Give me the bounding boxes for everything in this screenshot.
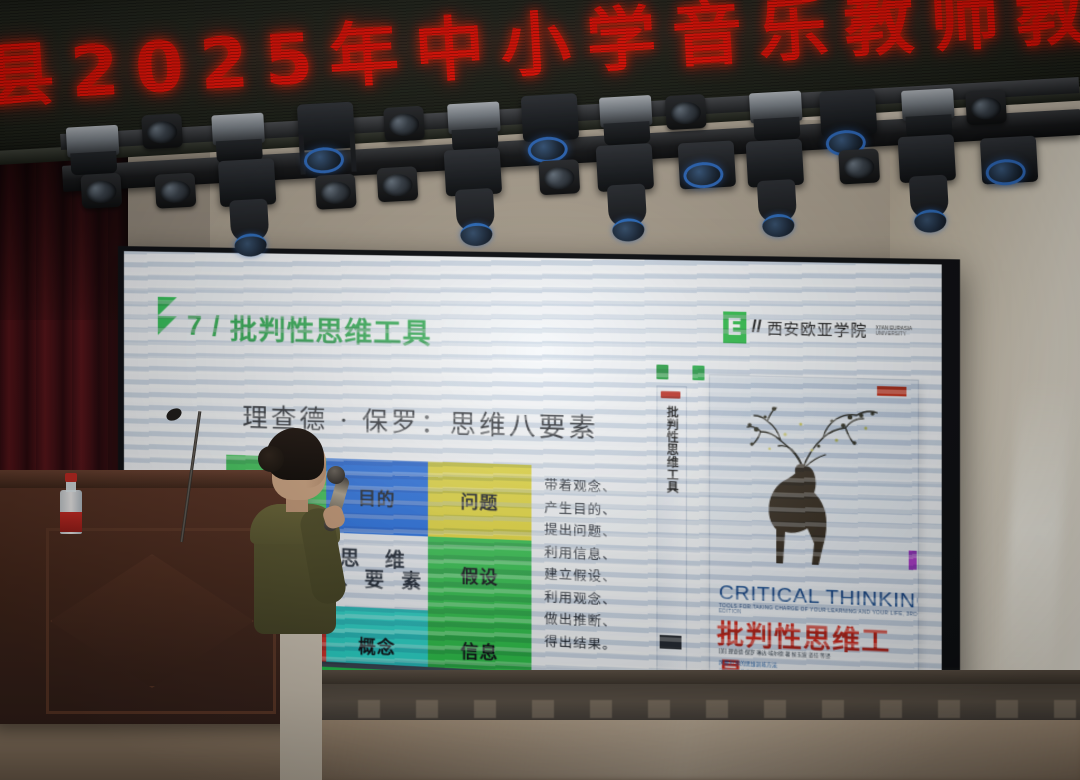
logo-e-mark: E	[723, 311, 746, 343]
moving-head-light-icon	[898, 134, 956, 183]
par-can-light-icon	[383, 106, 425, 142]
thinking-step-4: 利用信息、	[544, 541, 617, 566]
presenter	[232, 420, 382, 780]
moving-head-light-icon	[678, 140, 736, 189]
triangle-marker-icon	[158, 316, 177, 336]
university-logo: E // 西安欧亚学院 XI'AN EURASIA UNIVERSITY	[723, 311, 912, 347]
slide-accent-mark	[909, 550, 917, 570]
presenter-hair-bun	[258, 446, 284, 472]
green-badge-icon	[692, 365, 704, 380]
stage-edge	[300, 670, 1080, 684]
photograph-scene: 县2025年中小学音乐教师教学 7 / 批判性思维工具 E // 西安欧亚学院 …	[0, 0, 1080, 780]
thinking-steps-list: 带着观念、产生目的、提出问题、利用信息、建立假设、利用观念、做出推断、得出结果。	[544, 474, 617, 656]
book-spine-title: 批判性思维工具	[663, 406, 680, 495]
book-corner-tag	[877, 386, 906, 396]
slide-number: 7	[187, 310, 202, 342]
moving-head-lens-icon	[683, 161, 724, 189]
logo-slash: //	[752, 318, 762, 337]
logo-name-en: XI'AN EURASIA UNIVERSITY	[875, 325, 912, 337]
thinking-step-2: 产生目的、	[544, 496, 617, 521]
grid-cell-assumption: 假设	[428, 536, 532, 615]
thinking-step-6: 利用观念、	[544, 585, 617, 611]
slide-header: 7 / 批判性思维工具	[158, 306, 432, 352]
grid-cell-question: 问题	[428, 461, 532, 540]
fresnel-light-icon	[66, 125, 120, 158]
moving-head-light-icon	[521, 93, 579, 142]
logo-name-en-line2: UNIVERSITY	[875, 331, 906, 337]
thinking-step-3: 提出问题、	[544, 518, 617, 543]
moving-head-light-icon	[218, 158, 276, 207]
fresnel-light-icon	[599, 95, 653, 128]
moving-head-light-icon	[297, 102, 355, 151]
bottle-label	[60, 512, 82, 532]
green-badge-icon	[656, 365, 668, 380]
thinking-step-5: 建立假设、	[544, 563, 617, 588]
par-can-light-icon	[838, 148, 880, 184]
par-can-light-icon	[665, 94, 707, 130]
book-spine: 批判性思维工具	[656, 385, 687, 692]
fresnel-light-icon	[211, 113, 265, 146]
fresnel-light-icon	[749, 91, 803, 124]
thinking-step-7: 做出推断、	[544, 608, 617, 634]
par-can-light-icon	[965, 89, 1007, 125]
slide-title: 批判性思维工具	[230, 307, 432, 351]
fresnel-light-icon	[447, 101, 501, 134]
par-can-light-icon	[141, 113, 183, 149]
book-cover: CRITICAL THINKING TOOLS FOR TAKING CHARG…	[709, 374, 919, 705]
moving-head-light-icon	[980, 136, 1038, 185]
moving-head-light-icon	[444, 147, 502, 196]
water-bottle	[60, 472, 82, 534]
par-can-light-icon	[80, 173, 122, 209]
bottle-cap	[65, 473, 77, 482]
par-can-light-icon	[377, 166, 419, 202]
spine-band	[660, 635, 682, 650]
moving-head-lens-icon	[985, 158, 1026, 186]
par-can-light-icon	[315, 174, 357, 210]
logo-name-cn: 西安欧亚学院	[767, 318, 868, 341]
moving-head-light-icon	[746, 139, 804, 188]
moving-head-light-icon	[596, 143, 654, 192]
moving-head-light-icon	[819, 88, 877, 137]
thinking-step-1: 带着观念、	[544, 474, 617, 499]
deer-with-tree-antlers-icon	[734, 401, 902, 577]
slide-separator: /	[212, 311, 220, 342]
fresnel-light-icon	[901, 88, 955, 121]
par-can-light-icon	[538, 159, 580, 195]
spine-accent	[661, 391, 681, 399]
stage-riser-trim	[300, 700, 1080, 718]
par-can-light-icon	[155, 173, 197, 209]
thinking-step-8: 得出结果。	[544, 630, 617, 656]
